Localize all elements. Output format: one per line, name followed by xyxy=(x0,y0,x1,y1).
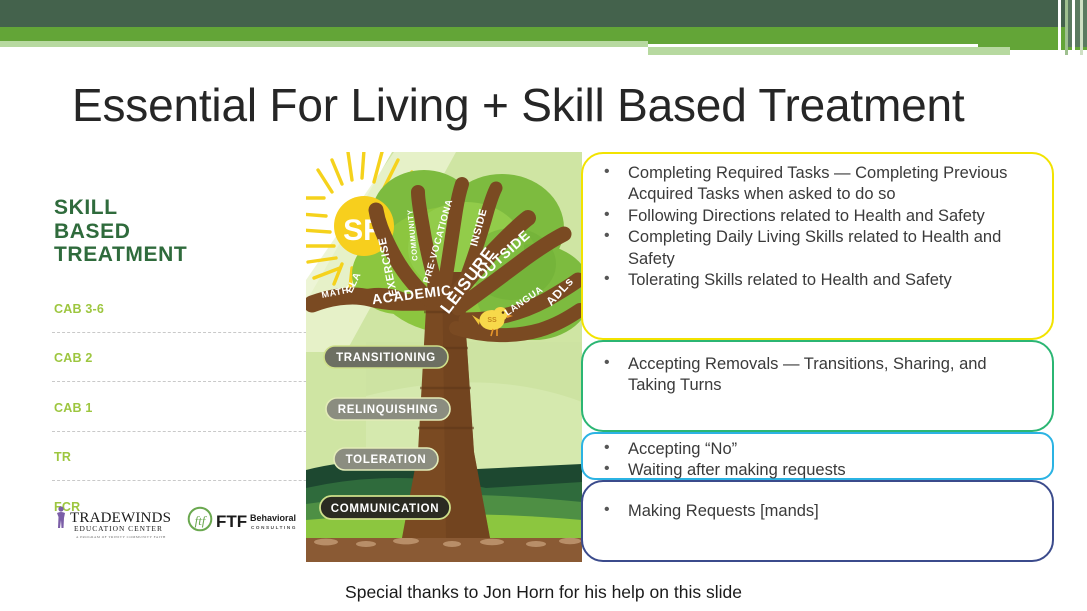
skill-tree-graphic: SKILL BASED TREATMENT CAB 3-6 CAB 2 CAB … xyxy=(40,152,582,562)
panel-tr[interactable]: Accepting “No” Waiting after making requ… xyxy=(581,432,1054,480)
trunk-label-relinquishing: RELINQUISHING xyxy=(326,398,450,420)
svg-text:Behavioral: Behavioral xyxy=(250,513,296,523)
header-dark-band xyxy=(0,0,1087,27)
svg-text:TOLERATION: TOLERATION xyxy=(346,454,427,466)
panel-cab21[interactable]: Accepting Removals — Transitions, Sharin… xyxy=(581,340,1054,432)
panel-tr-list: Accepting “No” Waiting after making requ… xyxy=(599,439,1036,482)
trunk-label-transitioning: TRANSITIONING xyxy=(324,346,448,368)
bird-badge-label: SS xyxy=(487,317,497,324)
partner-logos: TRADEWINDS EDUCATION CENTER A PROGRAM OF… xyxy=(50,502,305,547)
list-item: Completing Required Tasks — Completing P… xyxy=(599,163,1036,206)
graphic-heading-line-3: TREATMENT xyxy=(54,243,187,267)
list-item: Accepting “No” xyxy=(599,439,1036,460)
trunk-label-toleration: TOLERATION xyxy=(334,448,438,470)
level-label-cab36: CAB 3-6 xyxy=(54,302,104,316)
slide-caption: Special thanks to Jon Horn for his help … xyxy=(0,582,1087,603)
svg-text:COMMUNICATION: COMMUNICATION xyxy=(331,503,440,515)
graphic-heading-line-2: BASED xyxy=(54,220,187,244)
header-stripe-1 xyxy=(1058,0,1061,55)
header-dark-right xyxy=(1065,0,1087,47)
panel-cab36[interactable]: Completing Required Tasks — Completing P… xyxy=(581,152,1054,340)
tree-illustration: SR xyxy=(306,152,582,562)
level-label-tr: TR xyxy=(54,450,71,464)
svg-text:ftf: ftf xyxy=(195,513,208,528)
level-label-cab1: CAB 1 xyxy=(54,401,93,415)
svg-text:CONSULTING: CONSULTING xyxy=(251,525,297,530)
tradewinds-logo: TRADEWINDS EDUCATION CENTER A PROGRAM OF… xyxy=(57,506,171,539)
list-item: Accepting Removals — Transitions, Sharin… xyxy=(599,354,1036,397)
header-stripe-3 xyxy=(1072,0,1075,55)
panel-fcr-list: Making Requests [mands] xyxy=(599,501,1036,522)
graphic-heading: SKILL BASED TREATMENT xyxy=(54,196,187,267)
list-item: Waiting after making requests xyxy=(599,460,1036,481)
svg-text:FTF: FTF xyxy=(216,512,247,531)
header-stripe-2 xyxy=(1065,0,1068,55)
page-title: Essential For Living + Skill Based Treat… xyxy=(72,78,1022,132)
panel-cab36-list: Completing Required Tasks — Completing P… xyxy=(599,163,1036,292)
list-item: Following Directions related to Health a… xyxy=(599,206,1036,227)
svg-text:RELINQUISHING: RELINQUISHING xyxy=(338,404,438,416)
header-pale-accent xyxy=(648,47,1010,55)
svg-text:EDUCATION CENTER: EDUCATION CENTER xyxy=(74,524,163,533)
panel-cab21-list: Accepting Removals — Transitions, Sharin… xyxy=(599,354,1036,397)
ftf-logo: ftf FTF Behavioral CONSULTING xyxy=(189,508,297,531)
level-label-cab2: CAB 2 xyxy=(54,351,93,365)
list-item: Tolerating Skills related to Health and … xyxy=(599,270,1036,291)
list-item: Making Requests [mands] xyxy=(599,501,1036,522)
svg-text:TRANSITIONING: TRANSITIONING xyxy=(336,352,436,364)
trunk-label-communication: COMMUNICATION xyxy=(320,496,450,519)
slide-canvas: Essential For Living + Skill Based Treat… xyxy=(0,0,1087,611)
svg-text:A PROGRAM OF TRINITY COMMUNITY: A PROGRAM OF TRINITY COMMUNITY FAITH xyxy=(76,535,166,539)
header-stripe-4 xyxy=(1080,0,1083,55)
graphic-heading-line-1: SKILL xyxy=(54,196,187,220)
panel-fcr[interactable]: Making Requests [mands] xyxy=(581,480,1054,562)
list-item: Completing Daily Living Skills related t… xyxy=(599,227,1036,270)
